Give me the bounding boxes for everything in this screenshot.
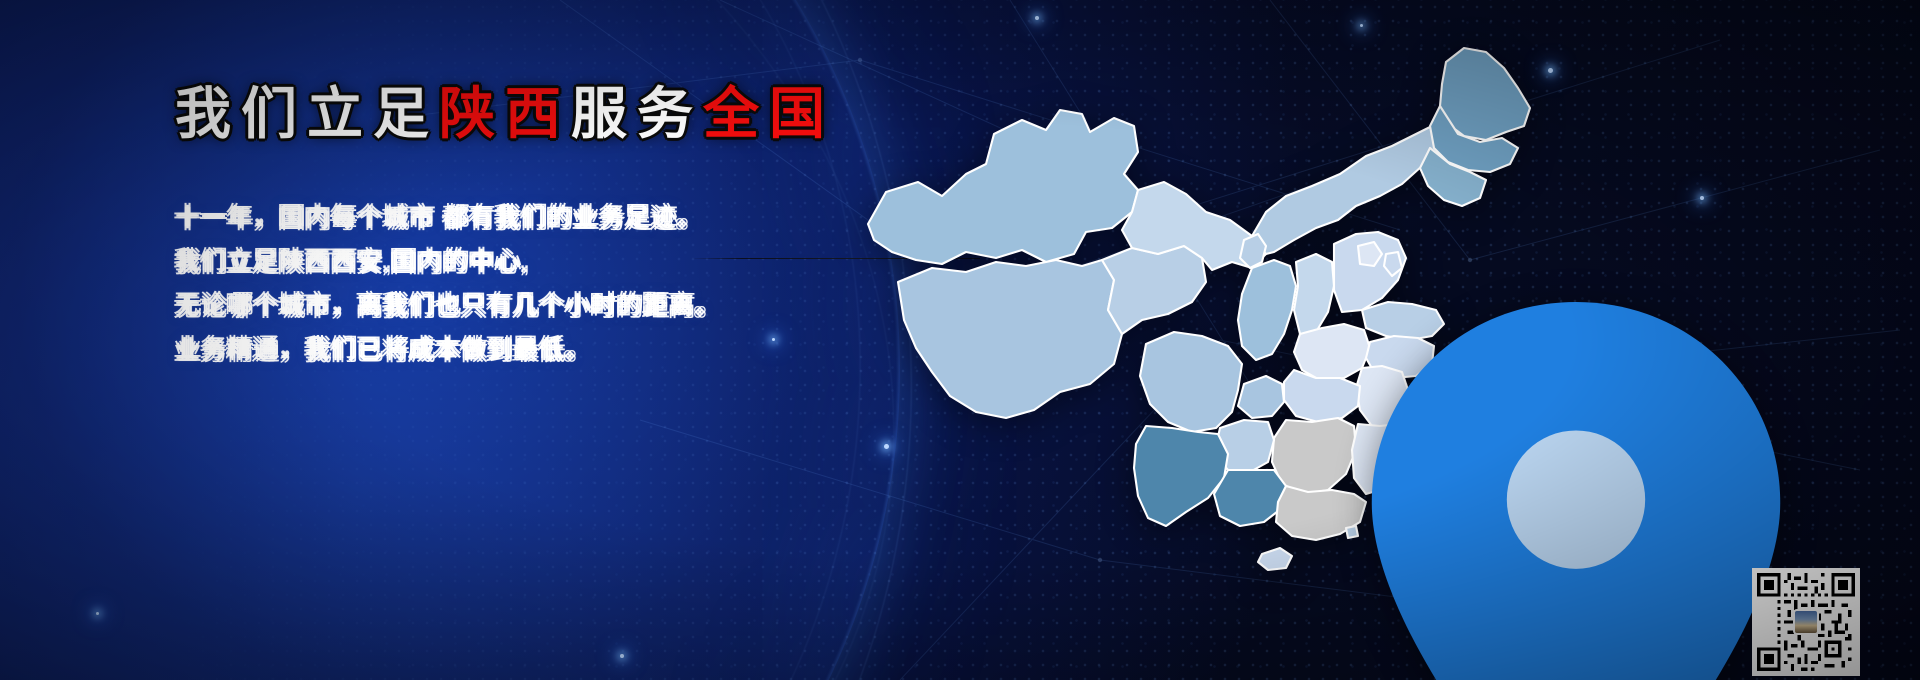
hero-banner: 我们立足陕西服务全国 十一年，国内每个城市 都有我们的业务足迹。 我们立足陕西西…	[0, 0, 1920, 680]
page-title: 我们立足陕西服务全国	[175, 86, 895, 142]
body-line-4: 业务精通，我们已将成本做到最低。	[175, 328, 895, 372]
headline-segment-1: 我们立足	[175, 82, 439, 145]
star-glow-3	[1700, 196, 1704, 200]
body-line-2: 我们立足陕西西安,国内的中心,	[175, 240, 895, 284]
star-glow-7	[620, 654, 624, 658]
province-yunnan	[1134, 426, 1228, 526]
province-xinjiang	[868, 110, 1138, 264]
copy-block: 我们立足陕西服务全国 十一年，国内每个城市 都有我们的业务足迹。 我们立足陕西西…	[175, 86, 895, 372]
province-qinghai	[1102, 246, 1206, 334]
star-glow-8	[96, 612, 99, 615]
province-tibet	[898, 260, 1122, 418]
body-line-1: 十一年，国内每个城市 都有我们的业务足迹。	[175, 196, 895, 240]
headline-segment-2: 陕西	[439, 82, 571, 145]
qr-code-matrix	[1757, 573, 1855, 671]
body-copy: 十一年，国内每个城市 都有我们的业务足迹。 我们立足陕西西安,国内的中心, 无论…	[175, 196, 895, 372]
china-map	[846, 14, 1566, 574]
province-ningxia	[1240, 234, 1266, 268]
body-line-3: 无论哪个城市，离我们也只有几个小时的距离。	[175, 284, 895, 328]
headline-segment-3: 服务	[571, 82, 703, 145]
qr-center-logo	[1793, 609, 1819, 635]
headline-segment-4: 全国	[703, 82, 835, 145]
qr-code[interactable]	[1752, 568, 1860, 676]
province-inner-mongolia	[1252, 124, 1450, 254]
